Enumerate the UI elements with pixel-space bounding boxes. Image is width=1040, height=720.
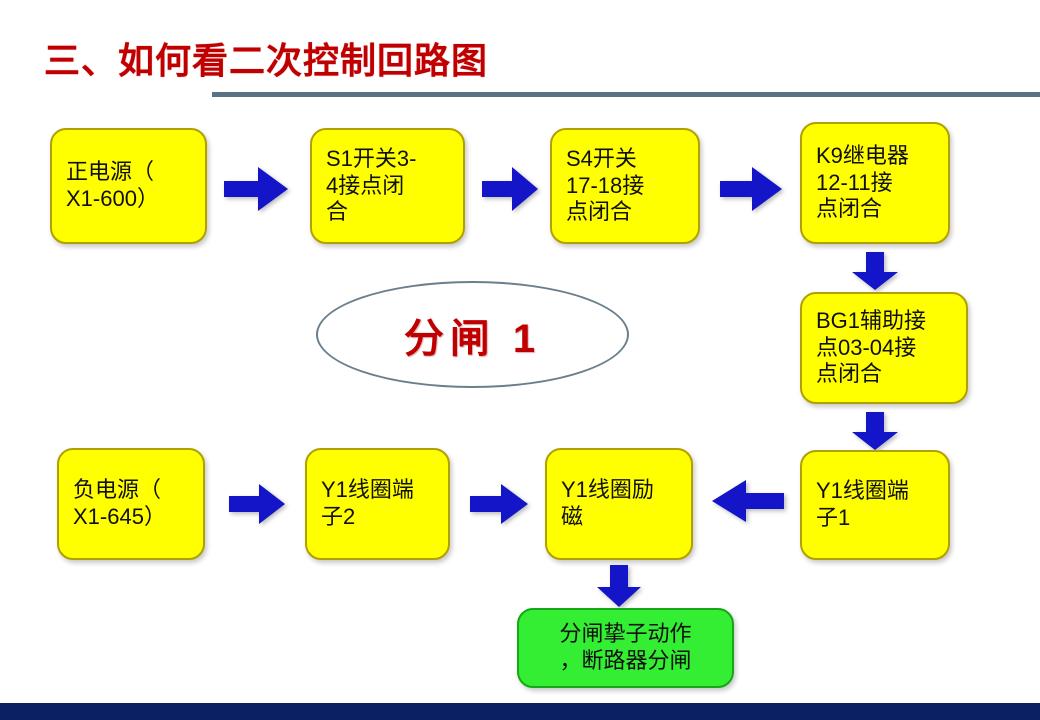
node-bg1-aux[interactable]: BG1辅助接 点03-04接 点闭合	[800, 292, 968, 404]
phase-label-ellipse: 分闸 1	[316, 281, 629, 388]
arrow-right-1	[222, 165, 290, 213]
node-y1-terminal-1[interactable]: Y1线圈端 子1	[800, 450, 950, 560]
node-breaker-open[interactable]: 分闸挚子动作 ，断路器分闸	[517, 608, 734, 688]
node-y1-terminal-2[interactable]: Y1线圈端 子2	[305, 448, 450, 560]
arrow-right-5	[468, 482, 530, 526]
node-s1-switch[interactable]: S1开关3- 4接点闭 合	[310, 128, 465, 244]
node-pos-supply[interactable]: 正电源（ X1-600）	[50, 128, 207, 244]
arrow-left-1	[710, 478, 786, 524]
ellipse-label: 分闸 1	[404, 306, 541, 364]
node-y1-excited[interactable]: Y1线圈励 磁	[545, 448, 693, 560]
arrow-right-3	[718, 165, 784, 213]
node-s4-switch[interactable]: S4开关 17-18接 点闭合	[550, 128, 700, 244]
page-title: 三、如何看二次控制回路图	[44, 32, 488, 84]
title-divider	[212, 92, 1040, 97]
arrow-right-4	[227, 482, 287, 526]
footer-bar	[0, 703, 1040, 720]
node-k9-relay[interactable]: K9继电器 12-11接 点闭合	[800, 122, 950, 244]
arrow-down-3	[595, 563, 643, 609]
arrow-right-2	[480, 165, 540, 213]
arrow-down-1	[850, 250, 900, 292]
arrow-down-2	[850, 410, 900, 452]
node-neg-supply[interactable]: 负电源（ X1-645）	[57, 448, 205, 560]
slide-canvas: 三、如何看二次控制回路图 正电源（ X1-600） S1开关3- 4接点闭 合 …	[0, 0, 1040, 720]
